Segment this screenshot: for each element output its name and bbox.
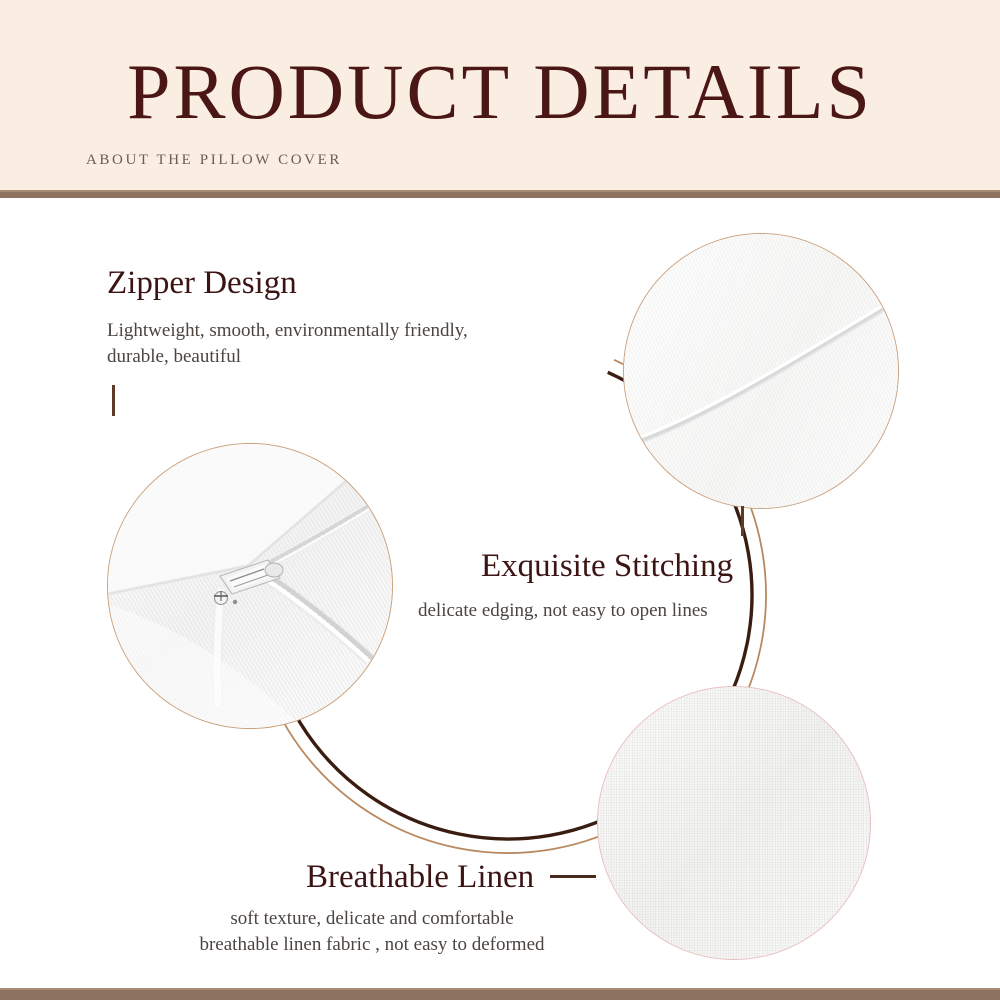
feature-description-stitching: delicate edging, not easy to open lines [418,598,763,624]
accent-tick-zipper [112,385,115,416]
fabric-texture [598,687,870,959]
feature-title-stitching: Exquisite Stitching [481,547,733,585]
accent-tick-stitching [741,506,744,536]
page-title: PRODUCT DETAILS [0,52,1000,132]
page-subtitle: ABOUT THE PILLOW COVER [86,152,342,169]
photo-exquisite-stitching [623,233,899,509]
bottom-border-highlight [0,988,1000,990]
feature-title-linen-text: Breathable Linen [306,859,534,895]
feature-description-linen-line1: soft texture, delicate and comfortable [182,906,562,932]
zipper-detail [108,444,392,728]
feature-description-linen: soft texture, delicate and comfortable b… [182,906,562,958]
feature-description-zipper: Lightweight, smooth, environmentally fri… [107,318,487,370]
accent-dash-linen [550,875,596,878]
feature-title-linen: Breathable Linen [306,858,596,896]
photo-breathable-linen [597,686,871,960]
product-details-infographic: PRODUCT DETAILS ABOUT THE PILLOW COVER [0,0,1000,1000]
seam-line [624,234,898,508]
feature-title-zipper: Zipper Design [107,264,297,302]
photo-zipper-design [107,443,393,729]
feature-description-linen-line2: breathable linen fabric , not easy to de… [182,932,562,958]
